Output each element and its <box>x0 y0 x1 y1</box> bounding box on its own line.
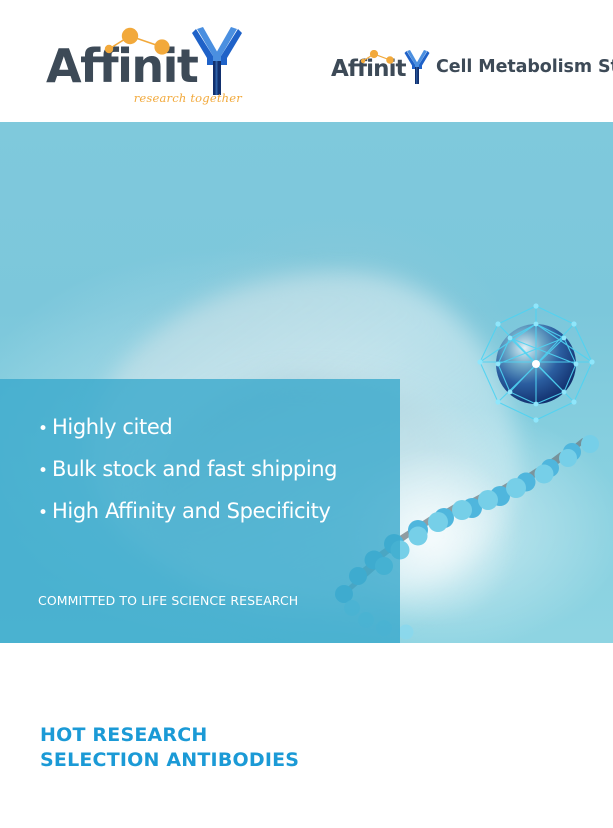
list-item: • High Affinity and Specificity <box>38 499 337 523</box>
antibody-y-icon <box>192 25 242 97</box>
page-footer: HOT RESEARCH SELECTION ANTIBODIES <box>0 643 613 828</box>
bullet-text: High Affinity and Specificity <box>52 499 330 523</box>
list-item: • Bulk stock and fast shipping <box>38 457 337 481</box>
affinity-brand-logo[interactable]: Affinit research together <box>46 27 236 103</box>
feature-bullet-list: • Highly cited • Bulk stock and fast shi… <box>38 415 337 541</box>
study-title: Cell Metabolism Study <box>436 57 613 77</box>
committed-tagline: COMMITTED TO LIFE SCIENCE RESEARCH <box>38 593 298 608</box>
page-header: Affinit research together Affinit <box>0 0 613 122</box>
list-item: • Highly cited <box>38 415 337 439</box>
footer-heading: HOT RESEARCH SELECTION ANTIBODIES <box>40 723 299 773</box>
hero-banner: • Highly cited • Bulk stock and fast shi… <box>0 122 613 643</box>
bullet-text: Highly cited <box>52 415 172 439</box>
molecular-network-sphere-icon <box>466 292 606 432</box>
orange-network-nodes-icon <box>100 27 186 61</box>
hero-overlay-panel: • Highly cited • Bulk stock and fast shi… <box>0 379 400 643</box>
bullet-text: Bulk stock and fast shipping <box>52 457 337 481</box>
footer-heading-line2: SELECTION ANTIBODIES <box>40 749 299 771</box>
affinity-mini-logo[interactable]: Affinit <box>331 50 428 84</box>
study-header: Affinit Cell Metabolism Study <box>331 50 613 84</box>
bullet-marker-icon: • <box>38 463 52 480</box>
bullet-marker-icon: • <box>38 505 52 522</box>
logo-tagline: research together <box>134 91 242 105</box>
footer-heading-line1: HOT RESEARCH <box>40 724 207 746</box>
orange-network-nodes-icon <box>358 50 402 66</box>
bullet-marker-icon: • <box>38 421 52 438</box>
antibody-y-icon <box>404 49 430 85</box>
poster-page: Affinit research together Affinit <box>0 0 613 828</box>
